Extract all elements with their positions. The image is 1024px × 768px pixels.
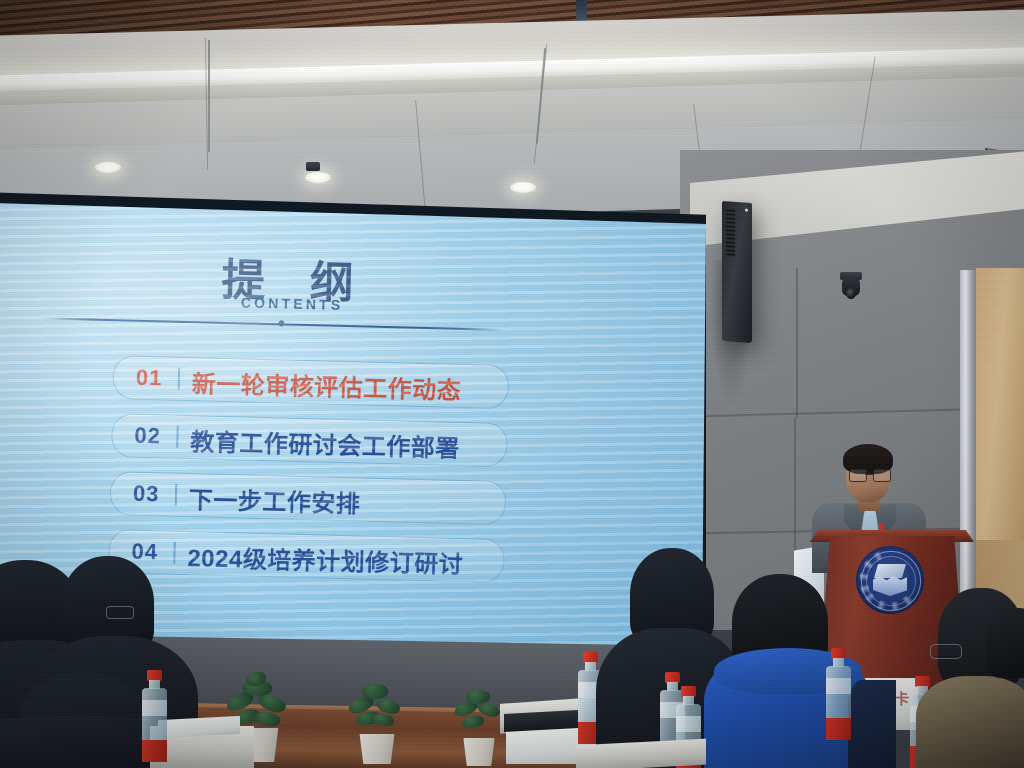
title-divider-rule xyxy=(44,317,504,331)
agenda-item-02[interactable]: 02 教育工作研讨会工作部署 xyxy=(111,413,508,467)
loudspeaker-icon xyxy=(722,201,752,343)
security-camera-icon xyxy=(838,272,864,302)
agenda-item-04[interactable]: 04 2024级培养计划修订研讨 xyxy=(108,529,505,583)
plant-leaves xyxy=(344,674,414,736)
camera-lens xyxy=(846,288,856,299)
slide-subtitle: CONTENTS xyxy=(241,294,344,313)
downlight-icon xyxy=(95,162,121,173)
agenda-item-01[interactable]: 01 新一轮审核评估工作动态 xyxy=(112,355,509,409)
downlight-icon xyxy=(305,172,331,183)
agenda-item-divider xyxy=(173,542,175,564)
ceiling-hanger-rod xyxy=(208,40,210,152)
agenda-item-number: 01 xyxy=(136,365,163,392)
agenda-item-number: 04 xyxy=(131,539,158,566)
agenda-item-text: 下一步工作安排 xyxy=(188,480,360,519)
agenda-item-text: 2024级培养计划修订研讨 xyxy=(187,538,464,580)
title-divider-dot xyxy=(278,320,284,326)
audience-person xyxy=(986,608,1024,678)
audience-glasses-icon xyxy=(106,606,134,619)
agenda-item-divider xyxy=(175,484,177,506)
agenda-item-divider xyxy=(178,368,180,390)
plant-pot xyxy=(358,734,396,764)
conference-photo-scene: 提 纲 CONTENTS 01 新一轮审核评估工作动态 02 教育工作研讨会工作… xyxy=(0,0,1024,768)
agenda-item-text: 新一轮审核评估工作动态 xyxy=(191,364,461,406)
wall-panel-seam xyxy=(796,268,798,418)
glasses-icon xyxy=(849,469,889,480)
agenda-item-text: 教育工作研讨会工作部署 xyxy=(190,422,460,464)
agenda-item-number: 02 xyxy=(134,423,161,450)
ceiling-speaker-icon xyxy=(306,162,320,171)
speaker-grill xyxy=(726,209,735,258)
audience-glasses-icon xyxy=(930,644,962,659)
lapel-pin-icon xyxy=(879,524,884,530)
agenda-item-03[interactable]: 03 下一步工作安排 xyxy=(109,471,506,525)
hoodie-shoulder-shadow xyxy=(848,680,896,768)
audience-person xyxy=(916,676,1024,768)
potted-plant xyxy=(358,706,404,764)
plant-pot xyxy=(462,738,496,766)
agenda-item-divider xyxy=(176,426,178,448)
agenda-item-number: 03 xyxy=(133,481,160,508)
downlight-icon xyxy=(510,182,536,193)
speaker-led-icon xyxy=(745,209,748,212)
crest-book-glyph xyxy=(874,564,906,578)
university-crest-icon xyxy=(856,546,924,614)
wall-metal-trim xyxy=(960,270,976,630)
